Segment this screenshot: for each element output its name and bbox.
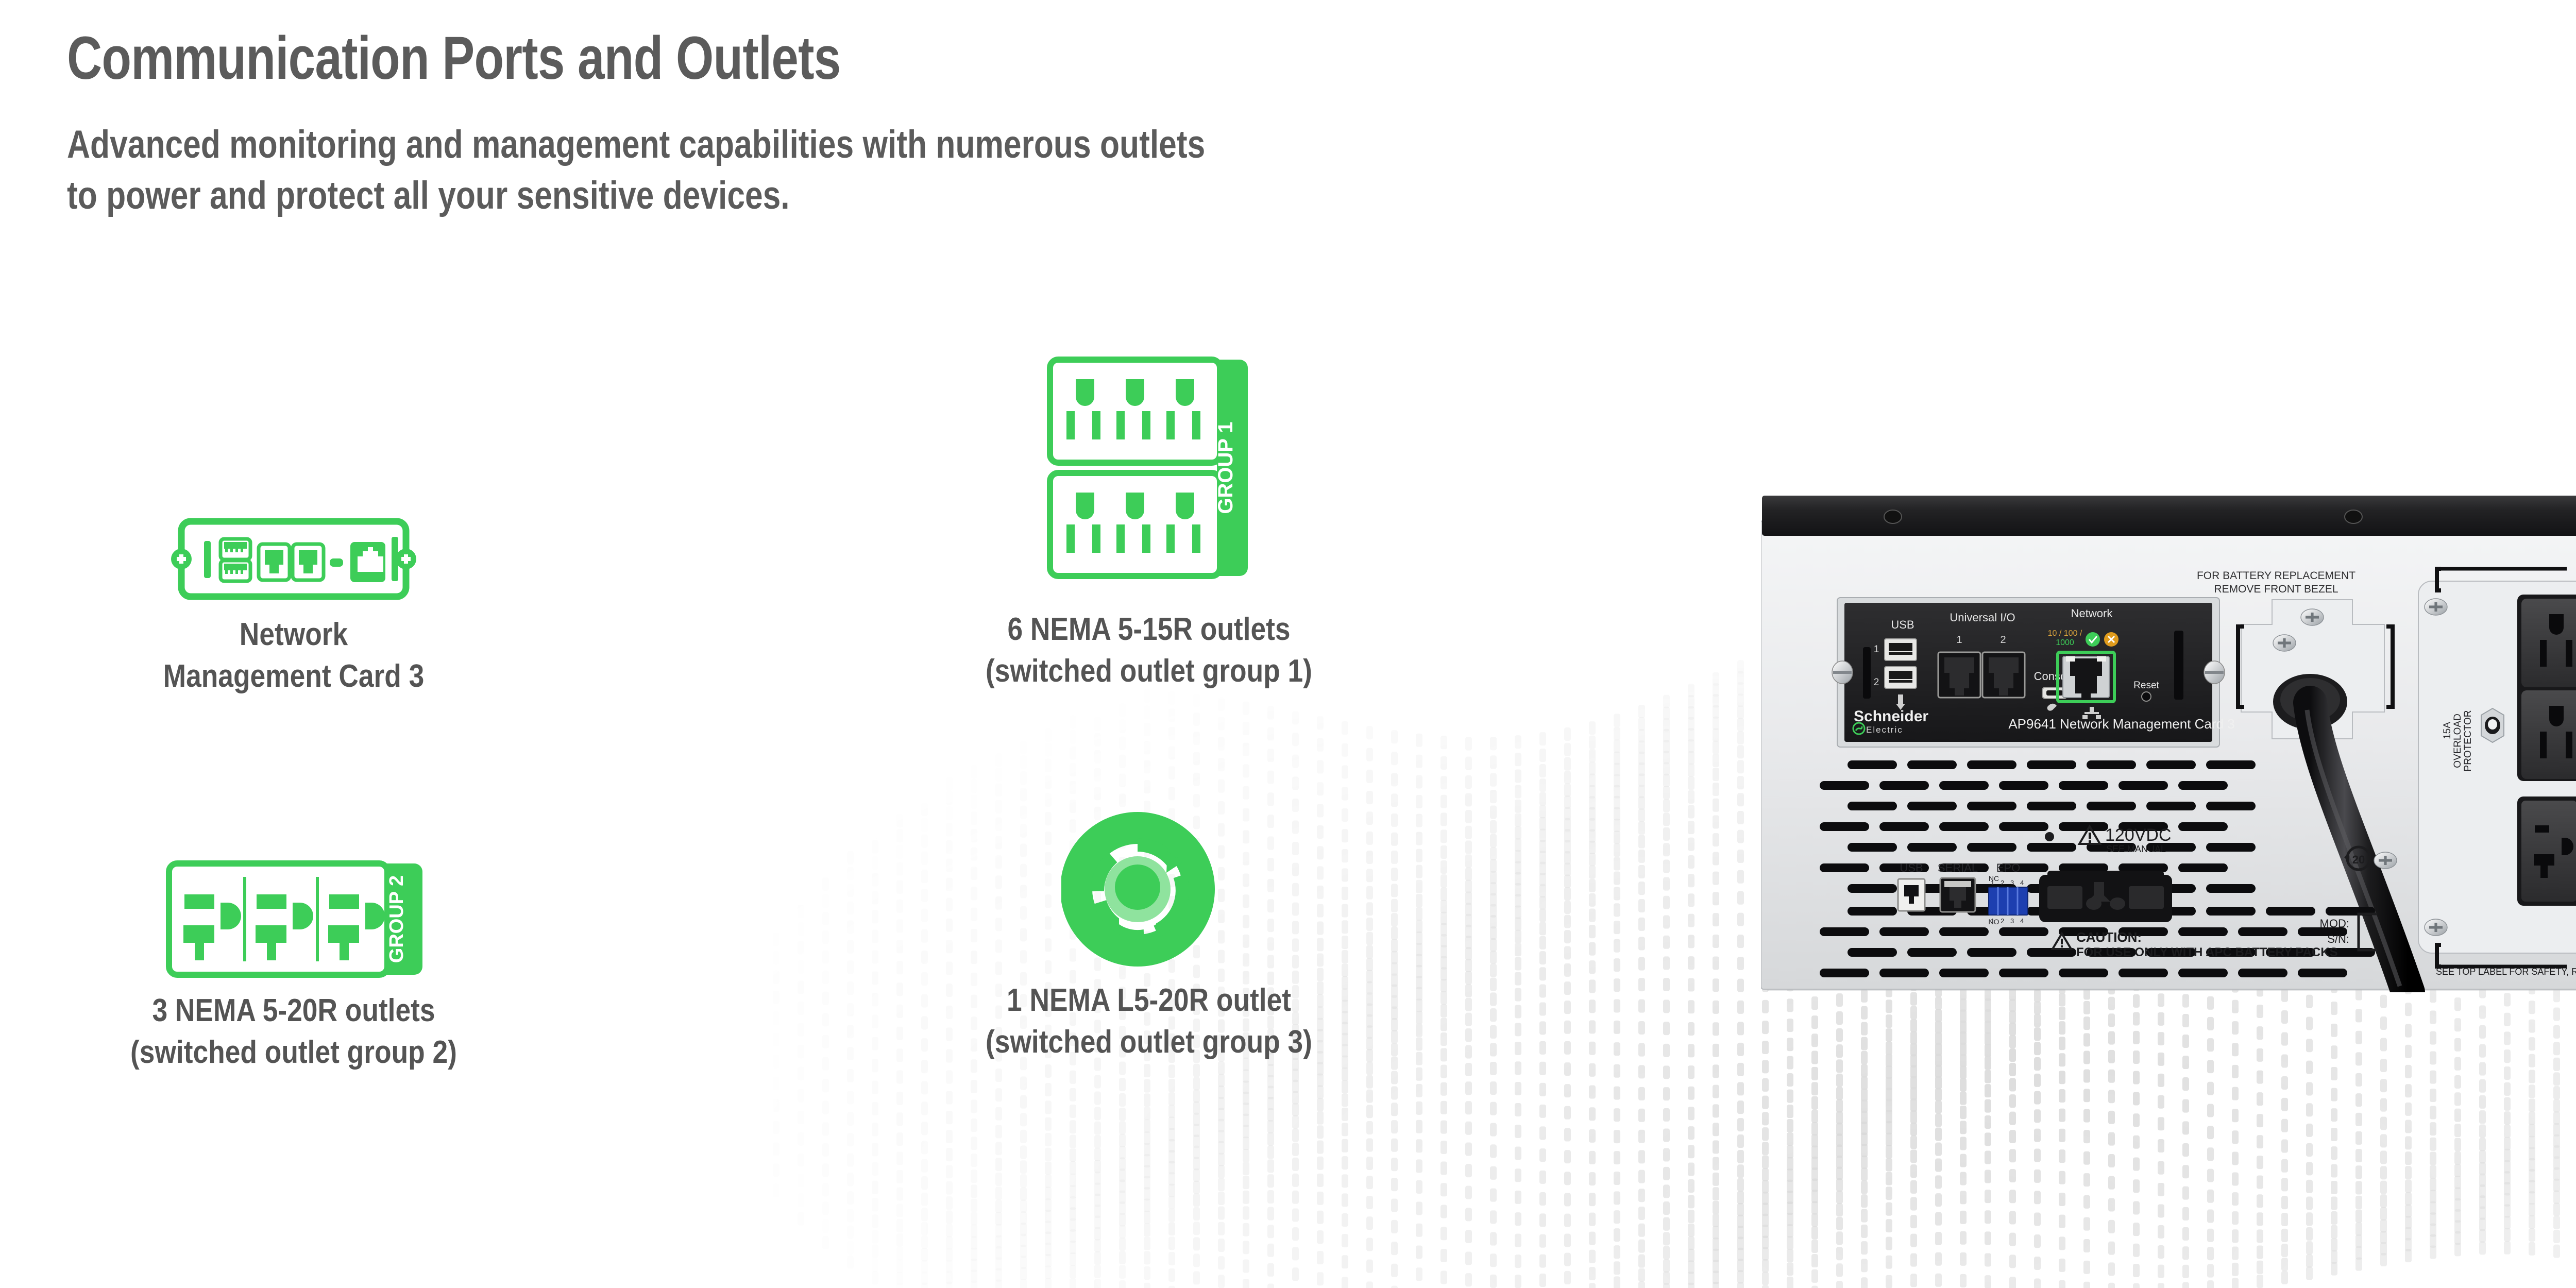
feature-network-management-card: Network Management Card 3 [62,505,526,697]
photo-reset-label: Reset [2133,680,2159,691]
outlet-5-15r [1116,493,1150,553]
photo-epo-pin-3-bottom: 3 [2010,917,2014,925]
outlet-5-15r [1166,379,1200,439]
photo-epo-pin-4-bottom: 4 [2020,917,2024,925]
photo-universal-io-port-2 [1982,652,2025,698]
photo-usb-port-1 [1885,639,1917,660]
nema-5-15r-outlets-icon: GROUP 1 [1046,355,1252,598]
photo-epo-pin-4-top: 4 [2020,879,2024,887]
outlet-divider [243,877,246,961]
photo-mod-label: MOD: [2320,917,2349,930]
photo-rohs-number: 20 [2352,853,2365,866]
photo-sn-label: S/N: [2327,933,2349,945]
network-management-card-icon [170,515,417,603]
page-title: Communication Ports and Outlets [67,27,1798,91]
network-management-card-module: USB 1 2 Universal I/O 1 2 Console [1832,598,2235,747]
icon-container: GROUP 2 [62,850,526,979]
group-tab: GROUP 1 [1214,360,1248,576]
photo-caution-title: CAUTION: [2076,929,2142,945]
photo-top-label-note: SEE TOP LABEL FOR SAFETY, REGULATORY, CA… [2436,967,2576,977]
outlet-5-20r [256,894,313,960]
network-rj45-port-icon [350,542,385,582]
photo-dc-warning: 120VDC [2105,825,2172,845]
photo-bottom-usb-label: USB [1900,861,1923,874]
outlet-bank-group-1: GROUP 1 [2517,595,2576,781]
ups-rear-panel-photo: USB 1 2 Universal I/O 1 2 Console [1761,488,2576,992]
feature-outlet-group-3: 1 NEMA L5-20R outlet (switched outlet gr… [845,799,1453,1063]
photo-overload-line3: PROTECTOR [2463,710,2473,772]
photo-universal-io-label: Universal I/O [1950,611,2015,624]
photo-epo-pin-1-top: 1 [1991,879,1994,887]
console-port-icon [330,558,343,567]
photo-epo-pin-2-bottom: 2 [2001,917,2004,925]
photo-usb-label: USB [1891,618,1914,631]
photo-battery-replacement-line2: REMOVE FRONT BEZEL [2214,583,2338,595]
outlet-5-20r [183,894,241,960]
outlet-5-15r [1166,493,1200,553]
feature-caption: Network Management Card 3 [94,614,493,697]
feature-caption: 3 NEMA 5-20R outlets (switched outlet gr… [94,990,493,1073]
group-tab-label: GROUP 2 [386,875,408,963]
photo-uio-2-number: 2 [2000,634,2006,646]
photo-usb-1-number: 1 [1874,644,1879,655]
photo-battery-replacement-line1: FOR BATTERY REPLACEMENT [2197,570,2355,582]
photo-universal-io-port-1 [1938,652,1980,698]
photo-overload-line2: OVERLOAD [2452,714,2463,768]
nema-5-20r-outlets-icon: GROUP 2 [165,859,422,979]
photo-overload-15a: 15A [2442,722,2453,739]
photo-card-model-label: AP9641 Network Management Card 3 [2008,716,2234,732]
outlet-5-20r [328,894,385,960]
photo-serial-label: SERIAL [1938,861,1978,874]
outlet-bank-plate: 15A OVERLOAD PROTECTOR [2418,569,2576,967]
group-tab: GROUP 2 [384,863,422,975]
photo-serial-port [1940,878,1975,912]
photo-epo-label: EPO [1996,861,2020,874]
feature-caption: 6 NEMA 5-15R outlets (switched outlet gr… [888,609,1411,692]
icon-container [62,505,526,603]
outlet-row-top [1050,360,1220,463]
photo-epo-pin-3-top: 3 [2010,879,2014,887]
photo-uio-1-number: 1 [1956,634,1962,646]
photo-led-green [2086,632,2100,647]
photo-network-label: Network [2071,607,2113,620]
card-slot-left [204,541,211,578]
usb-dual-port-icon [221,539,250,581]
feature-outlet-group-2: GROUP 2 3 NEMA 5-20R outlets (switched o… [62,850,526,1073]
card-slot-right [392,537,398,581]
feature-caption: 1 NEMA L5-20R outlet (switched outlet gr… [888,980,1411,1063]
photo-usb-port-2 [1885,667,1917,688]
top-mounting-bar [1762,496,2576,536]
outlet-5-15r [1116,379,1150,439]
outlet-bank-group-2: GROUP 2 [2517,796,2576,906]
photo-usb-2-number: 2 [1874,677,1879,688]
photo-epo-pin-1-bottom: 1 [1991,917,1994,925]
photo-caution-body: FOR USE ONLY WITH APC BATTERY PACKS [2076,945,2338,959]
photo-epo-pin-2-top: 2 [2001,879,2004,887]
outlet-row-bottom [1050,473,1220,576]
outlet-5-15r [1066,379,1100,439]
photo-bottom-usb-port [1898,879,1925,911]
feature-outlet-group-1: GROUP 1 6 NEMA 5-15R outlets (switched o… [845,350,1453,692]
rj45-port-1-icon [259,544,290,580]
group-tab-label: GROUP 1 [1214,421,1237,514]
outlet-5-15r [1066,493,1100,553]
photo-schneider-brand-sub: Electric [1866,725,1903,735]
header: Communication Ports and Outlets Advanced… [67,27,2231,221]
rj45-port-2-icon [293,544,324,580]
icon-container: GROUP 1 [845,350,1453,598]
photo-battery-connector [2039,871,2172,922]
outlet-divider [316,877,319,961]
photo-network-port [2058,652,2114,702]
photo-network-speed-line2: 1000 [2056,638,2074,647]
icon-container [845,799,1453,969]
photo-network-speed-line1: 10 / 100 / [2048,629,2082,638]
photo-reset-button [2142,692,2151,701]
photo-schneider-brand: Schneider [1854,708,1928,725]
photo-dc-warning-sub: SEE MANUAL [2106,844,2166,854]
page-subtitle: Advanced monitoring and management capab… [67,120,1841,222]
nema-l5-20r-outlet-icon [1061,809,1236,969]
